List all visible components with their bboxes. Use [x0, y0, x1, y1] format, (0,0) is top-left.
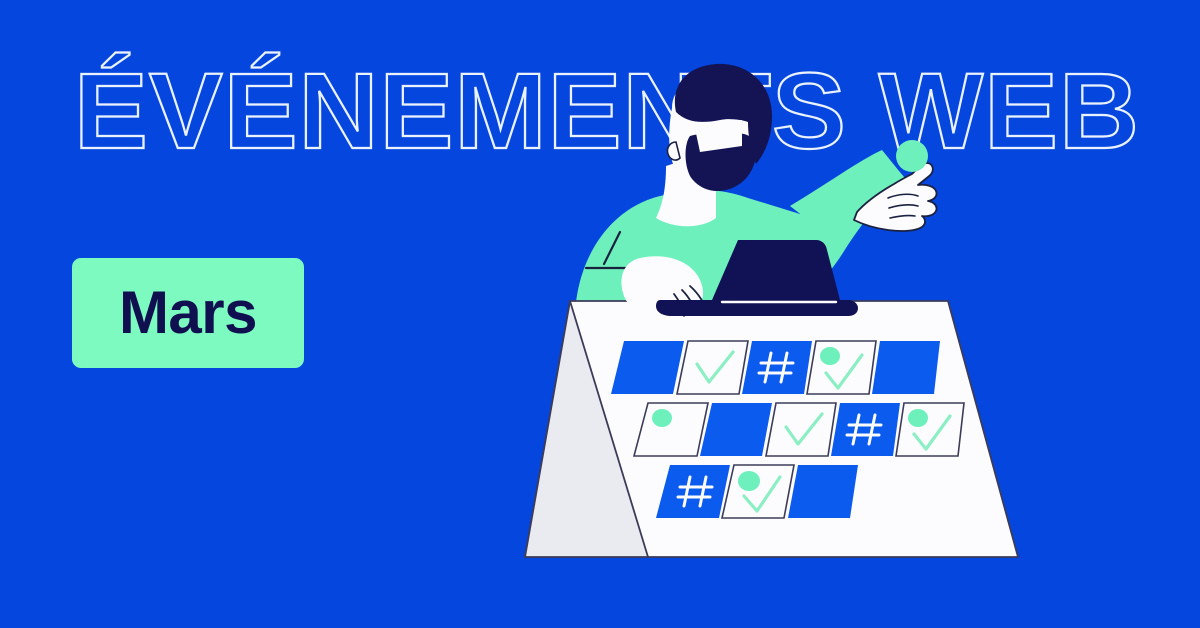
person-neck	[656, 150, 716, 226]
calendar-cell	[656, 465, 730, 518]
dot-icon	[820, 347, 840, 365]
hash-icon	[847, 415, 881, 444]
calendar-cell	[831, 403, 900, 456]
check-icon	[744, 477, 780, 511]
dot-icon	[738, 471, 760, 491]
mint-dot-accent	[896, 140, 928, 172]
hash-icon	[759, 353, 793, 382]
calendar-cell	[722, 465, 794, 518]
calendar-cell	[896, 403, 964, 456]
check-icon	[914, 416, 950, 449]
person-left-hand	[621, 256, 707, 317]
person-shirt	[575, 150, 905, 330]
calendar-cell	[807, 341, 876, 394]
web-events-banner: ÉVÉNEMENTS WEB Mars	[0, 0, 1200, 628]
calendar-cell	[742, 341, 812, 394]
calendar-cell	[677, 341, 748, 394]
calendar-cell	[872, 341, 940, 394]
calendar-cell	[700, 403, 772, 456]
calendar-cell	[611, 341, 684, 394]
person-shirt-fold-lines	[586, 232, 668, 268]
laptop	[656, 240, 858, 316]
calendar-cell	[766, 403, 836, 456]
dot-icon	[652, 409, 672, 427]
month-badge: Mars	[72, 258, 304, 368]
calendar-cell	[788, 465, 858, 518]
dot-icon	[908, 409, 928, 427]
page-title-text: ÉVÉNEMENTS WEB	[74, 50, 1140, 171]
person-head	[667, 64, 772, 191]
check-icon	[786, 414, 822, 444]
person-pointing-hand	[854, 163, 937, 231]
calendar-cell	[634, 403, 708, 456]
check-icon	[697, 352, 733, 382]
month-badge-label: Mars	[119, 283, 257, 343]
check-icon	[826, 355, 862, 388]
page-title: ÉVÉNEMENTS WEB	[74, 52, 1144, 172]
tent-calendar	[525, 301, 1018, 557]
hash-icon	[678, 477, 712, 506]
